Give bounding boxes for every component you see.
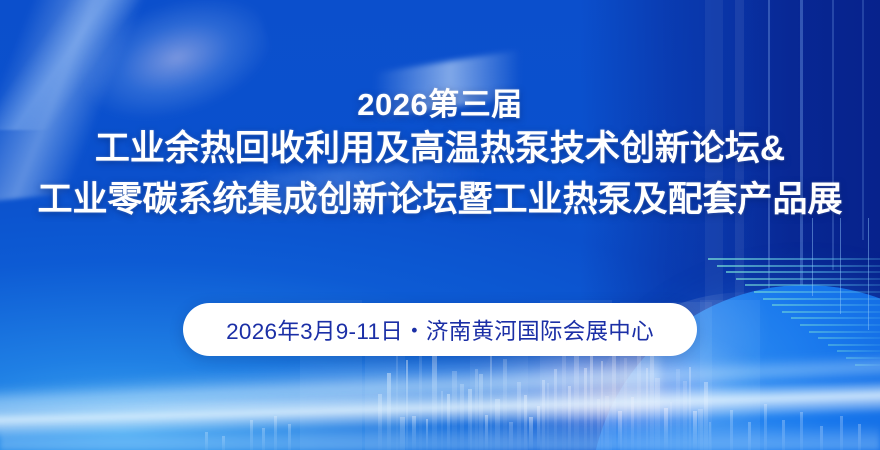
headline-line-2: 工业余热回收利用及高温热泵技术创新论坛& bbox=[0, 124, 880, 174]
step-line bbox=[736, 278, 880, 280]
conference-banner: 2026第三届 工业余热回收利用及高温热泵技术创新论坛& 工业零碳系统集成创新论… bbox=[0, 0, 880, 450]
step-line bbox=[708, 258, 880, 260]
decorative-light-band bbox=[0, 424, 880, 450]
step-line-vertical bbox=[812, 218, 813, 296]
step-line bbox=[726, 271, 880, 273]
banner-headline: 2026第三届 工业余热回收利用及高温热泵技术创新论坛& 工业零碳系统集成创新论… bbox=[0, 86, 880, 226]
date-venue-text: 2026年3月9-11日・济南黄河国际会展中心 bbox=[226, 314, 654, 346]
headline-line-1: 2026第三届 bbox=[0, 86, 880, 124]
date-venue-pill: 2026年3月9-11日・济南黄河国际会展中心 bbox=[183, 303, 697, 356]
step-line bbox=[754, 291, 880, 293]
headline-line-3: 工业零碳系统集成创新论坛暨工业热泵及配套产品展 bbox=[0, 174, 880, 226]
step-line bbox=[717, 265, 880, 267]
